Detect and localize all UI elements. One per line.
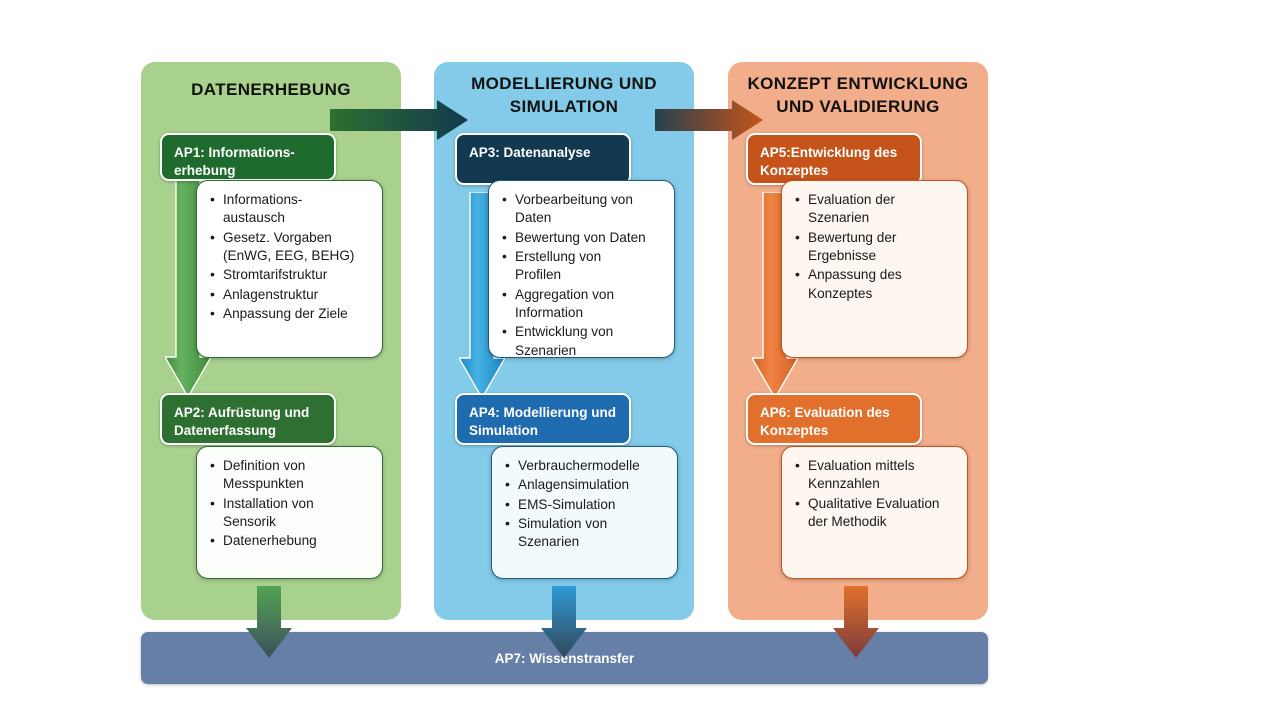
- arrow-column1-to-ap7: [246, 586, 292, 658]
- ap6-bullet-list: Evaluation mittelsKennzahlen Qualitative…: [782, 447, 967, 542]
- ap1-header-line2: erhebung: [174, 162, 322, 180]
- list-item: Bewertung derErgebnisse: [808, 229, 959, 266]
- list-item: Anlagenstruktur: [223, 286, 374, 304]
- list-item: Stromtarifstruktur: [223, 266, 374, 284]
- list-item: Bewertung von Daten: [515, 229, 666, 247]
- ap5-header-line1: AP5:Entwicklung des: [760, 144, 908, 162]
- column-title-line2: UND VALIDIERUNG: [776, 97, 939, 116]
- list-item: EMS-Simulation: [518, 496, 669, 514]
- ap2-header-line2: Datenerfassung: [174, 422, 322, 440]
- list-item: Gesetz. Vorgaben(EnWG, EEG, BEHG): [223, 229, 374, 266]
- arrow-column2-to-ap7: [541, 586, 587, 658]
- list-item: Aggregation vonInformation: [515, 286, 666, 323]
- ap3-bullet-list: Vorbearbeitung vonDaten Bewertung von Da…: [489, 181, 674, 371]
- arrow-column2-to-column3: [655, 100, 763, 140]
- diagram-canvas: DATENERHEBUNG AP1: Informations- erhebun…: [0, 0, 1280, 720]
- ap5-header-line2: Konzeptes: [760, 162, 908, 180]
- ap5-header[interactable]: AP5:Entwicklung des Konzeptes: [746, 133, 922, 185]
- ap2-bullet-card: Definition vonMesspunkten Installation v…: [196, 446, 383, 579]
- ap3-header[interactable]: AP3: Datenanalyse: [455, 133, 631, 185]
- list-item: Evaluation mittelsKennzahlen: [808, 457, 959, 494]
- ap1-header[interactable]: AP1: Informations- erhebung: [160, 133, 336, 181]
- list-item: Definition vonMesspunkten: [223, 457, 374, 494]
- list-item: Installation vonSensorik: [223, 495, 374, 532]
- list-item: Datenerhebung: [223, 532, 374, 550]
- arrow-column1-to-column2: [330, 100, 468, 140]
- list-item: Vorbearbeitung vonDaten: [515, 191, 666, 228]
- ap6-header-line1: AP6: Evaluation des: [760, 404, 908, 422]
- column-title-datenerhebung: DATENERHEBUNG: [141, 79, 401, 102]
- ap1-bullet-list: Informations-austausch Gesetz. Vorgaben(…: [197, 181, 382, 334]
- list-item: Simulation vonSzenarien: [518, 515, 669, 552]
- ap5-bullet-list: Evaluation derSzenarien Bewertung derErg…: [782, 181, 967, 314]
- list-item: Erstellung vonProfilen: [515, 248, 666, 285]
- list-item: Anlagensimulation: [518, 476, 669, 494]
- ap3-bullet-card: Vorbearbeitung vonDaten Bewertung von Da…: [488, 180, 675, 358]
- ap2-header[interactable]: AP2: Aufrüstung und Datenerfassung: [160, 393, 336, 445]
- ap1-bullet-card: Informations-austausch Gesetz. Vorgaben(…: [196, 180, 383, 358]
- ap6-header[interactable]: AP6: Evaluation des Konzeptes: [746, 393, 922, 445]
- list-item: Evaluation derSzenarien: [808, 191, 959, 228]
- list-item: Entwicklung vonSzenarien: [515, 323, 666, 360]
- ap6-bullet-card: Evaluation mittelsKennzahlen Qualitative…: [781, 446, 968, 579]
- ap3-header-line1: AP3: Datenanalyse: [469, 144, 617, 162]
- column-title-line1: KONZEPT ENTWICKLUNG: [747, 74, 968, 93]
- column-title-line2: SIMULATION: [510, 97, 619, 116]
- arrow-column3-to-ap7: [833, 586, 879, 658]
- ap4-bullet-list: Verbrauchermodelle Anlagensimulation EMS…: [492, 447, 677, 563]
- ap2-header-line1: AP2: Aufrüstung und: [174, 404, 322, 422]
- ap1-header-line1: AP1: Informations-: [174, 144, 322, 162]
- ap5-bullet-card: Evaluation derSzenarien Bewertung derErg…: [781, 180, 968, 358]
- ap4-header-line2: Simulation: [469, 422, 617, 440]
- column-title-line1: MODELLIERUNG UND: [471, 74, 657, 93]
- list-item: Verbrauchermodelle: [518, 457, 669, 475]
- list-item: Anpassung desKonzeptes: [808, 266, 959, 303]
- list-item: Informations-austausch: [223, 191, 374, 228]
- list-item: Anpassung der Ziele: [223, 305, 374, 323]
- ap4-bullet-card: Verbrauchermodelle Anlagensimulation EMS…: [491, 446, 678, 579]
- ap2-bullet-list: Definition vonMesspunkten Installation v…: [197, 447, 382, 562]
- list-item: Qualitative Evaluationder Methodik: [808, 495, 959, 532]
- ap4-header[interactable]: AP4: Modellierung und Simulation: [455, 393, 631, 445]
- ap6-header-line2: Konzeptes: [760, 422, 908, 440]
- ap4-header-line1: AP4: Modellierung und: [469, 404, 617, 422]
